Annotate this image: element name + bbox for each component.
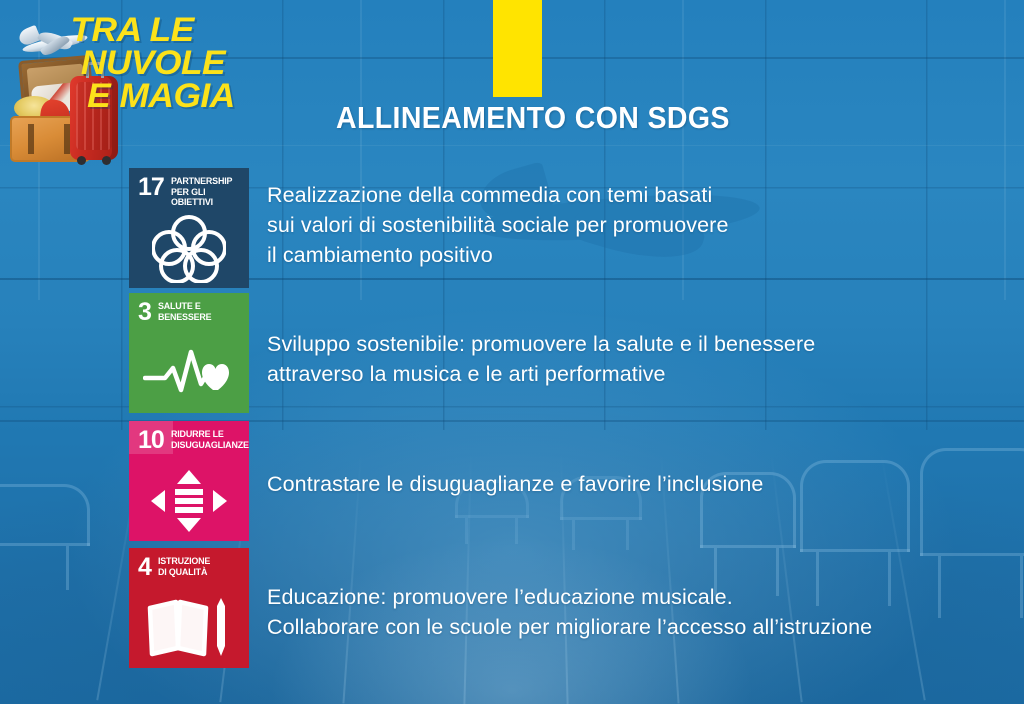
logo-wordmark: TRA LE NUVOLE E MAGIA [70,14,253,113]
sdg-tile-4[interactable]: 4 ISTRUZIONE DI QUALITÀ [129,548,249,668]
sdg-description-4: Educazione: promuovere l’educazione musi… [267,582,872,642]
sdg-row-10: 10 RIDURRE LE DISUGUAGLIANZE Contrastare… [0,421,1024,541]
five-interlocking-circles-icon [129,212,249,284]
sdg-tile-17[interactable]: 17 PARTNERSHIP PER GLI OBIETTIVI [129,168,249,288]
sdg-description-17: Realizzazione della commedia con temi ba… [267,180,729,270]
sdg-row-3: 3 SALUTE E BENESSERE Sviluppo sostenibil… [0,293,1024,413]
sdg-tile-3[interactable]: 3 SALUTE E BENESSERE [129,293,249,413]
logo-line-2: NUVOLE [70,47,253,80]
brand-logo: TRA LE NUVOLE E MAGIA [8,6,248,166]
sdg-tile-10[interactable]: 10 RIDURRE LE DISUGUAGLIANZE [129,421,249,541]
equals-sign-four-arrows-icon [129,465,249,537]
sdg-description-3: Sviluppo sostenibile: promuovere la salu… [267,329,815,389]
sdg-tile-header-17: 17 PARTNERSHIP PER GLI OBIETTIVI [129,168,249,209]
logo-line-1: TRA LE [70,14,253,47]
sdg-row-4: 4 ISTRUZIONE DI QUALITÀ Educazione: prom… [0,548,1024,668]
sdg-row-17: 17 PARTNERSHIP PER GLI OBIETTIVI Realizz… [0,168,1024,288]
sdg-number-3: 3 [138,302,151,323]
sdg-tile-header-3: 3 SALUTE E BENESSERE [129,293,249,323]
open-book-pencil-icon [129,592,249,664]
sdg-description-10: Contrastare le disuguaglianze e favorire… [267,469,764,499]
sdg-label-3: SALUTE E BENESSERE [158,302,211,323]
heartbeat-heart-icon [129,337,249,409]
yellow-accent-bar [493,0,542,97]
sdg-tile-header-4: 4 ISTRUZIONE DI QUALITÀ [129,548,249,578]
sdg-tile-header-10: 10 RIDURRE LE DISUGUAGLIANZE [129,421,249,451]
sdg-number-10: 10 [138,430,164,451]
sdg-label-4: ISTRUZIONE DI QUALITÀ [158,557,210,578]
page-title: ALLINEAMENTO CON SDGS [336,101,730,135]
sdg-label-17: PARTNERSHIP PER GLI OBIETTIVI [171,177,244,209]
sdg-label-10: RIDURRE LE DISUGUAGLIANZE [171,430,249,451]
logo-line-3: E MAGIA [70,80,253,113]
sdg-number-4: 4 [138,557,151,578]
sdg-number-17: 17 [138,177,164,198]
presentation-slide: TRA LE NUVOLE E MAGIA ALLINEAMENTO CON S… [0,0,1024,704]
